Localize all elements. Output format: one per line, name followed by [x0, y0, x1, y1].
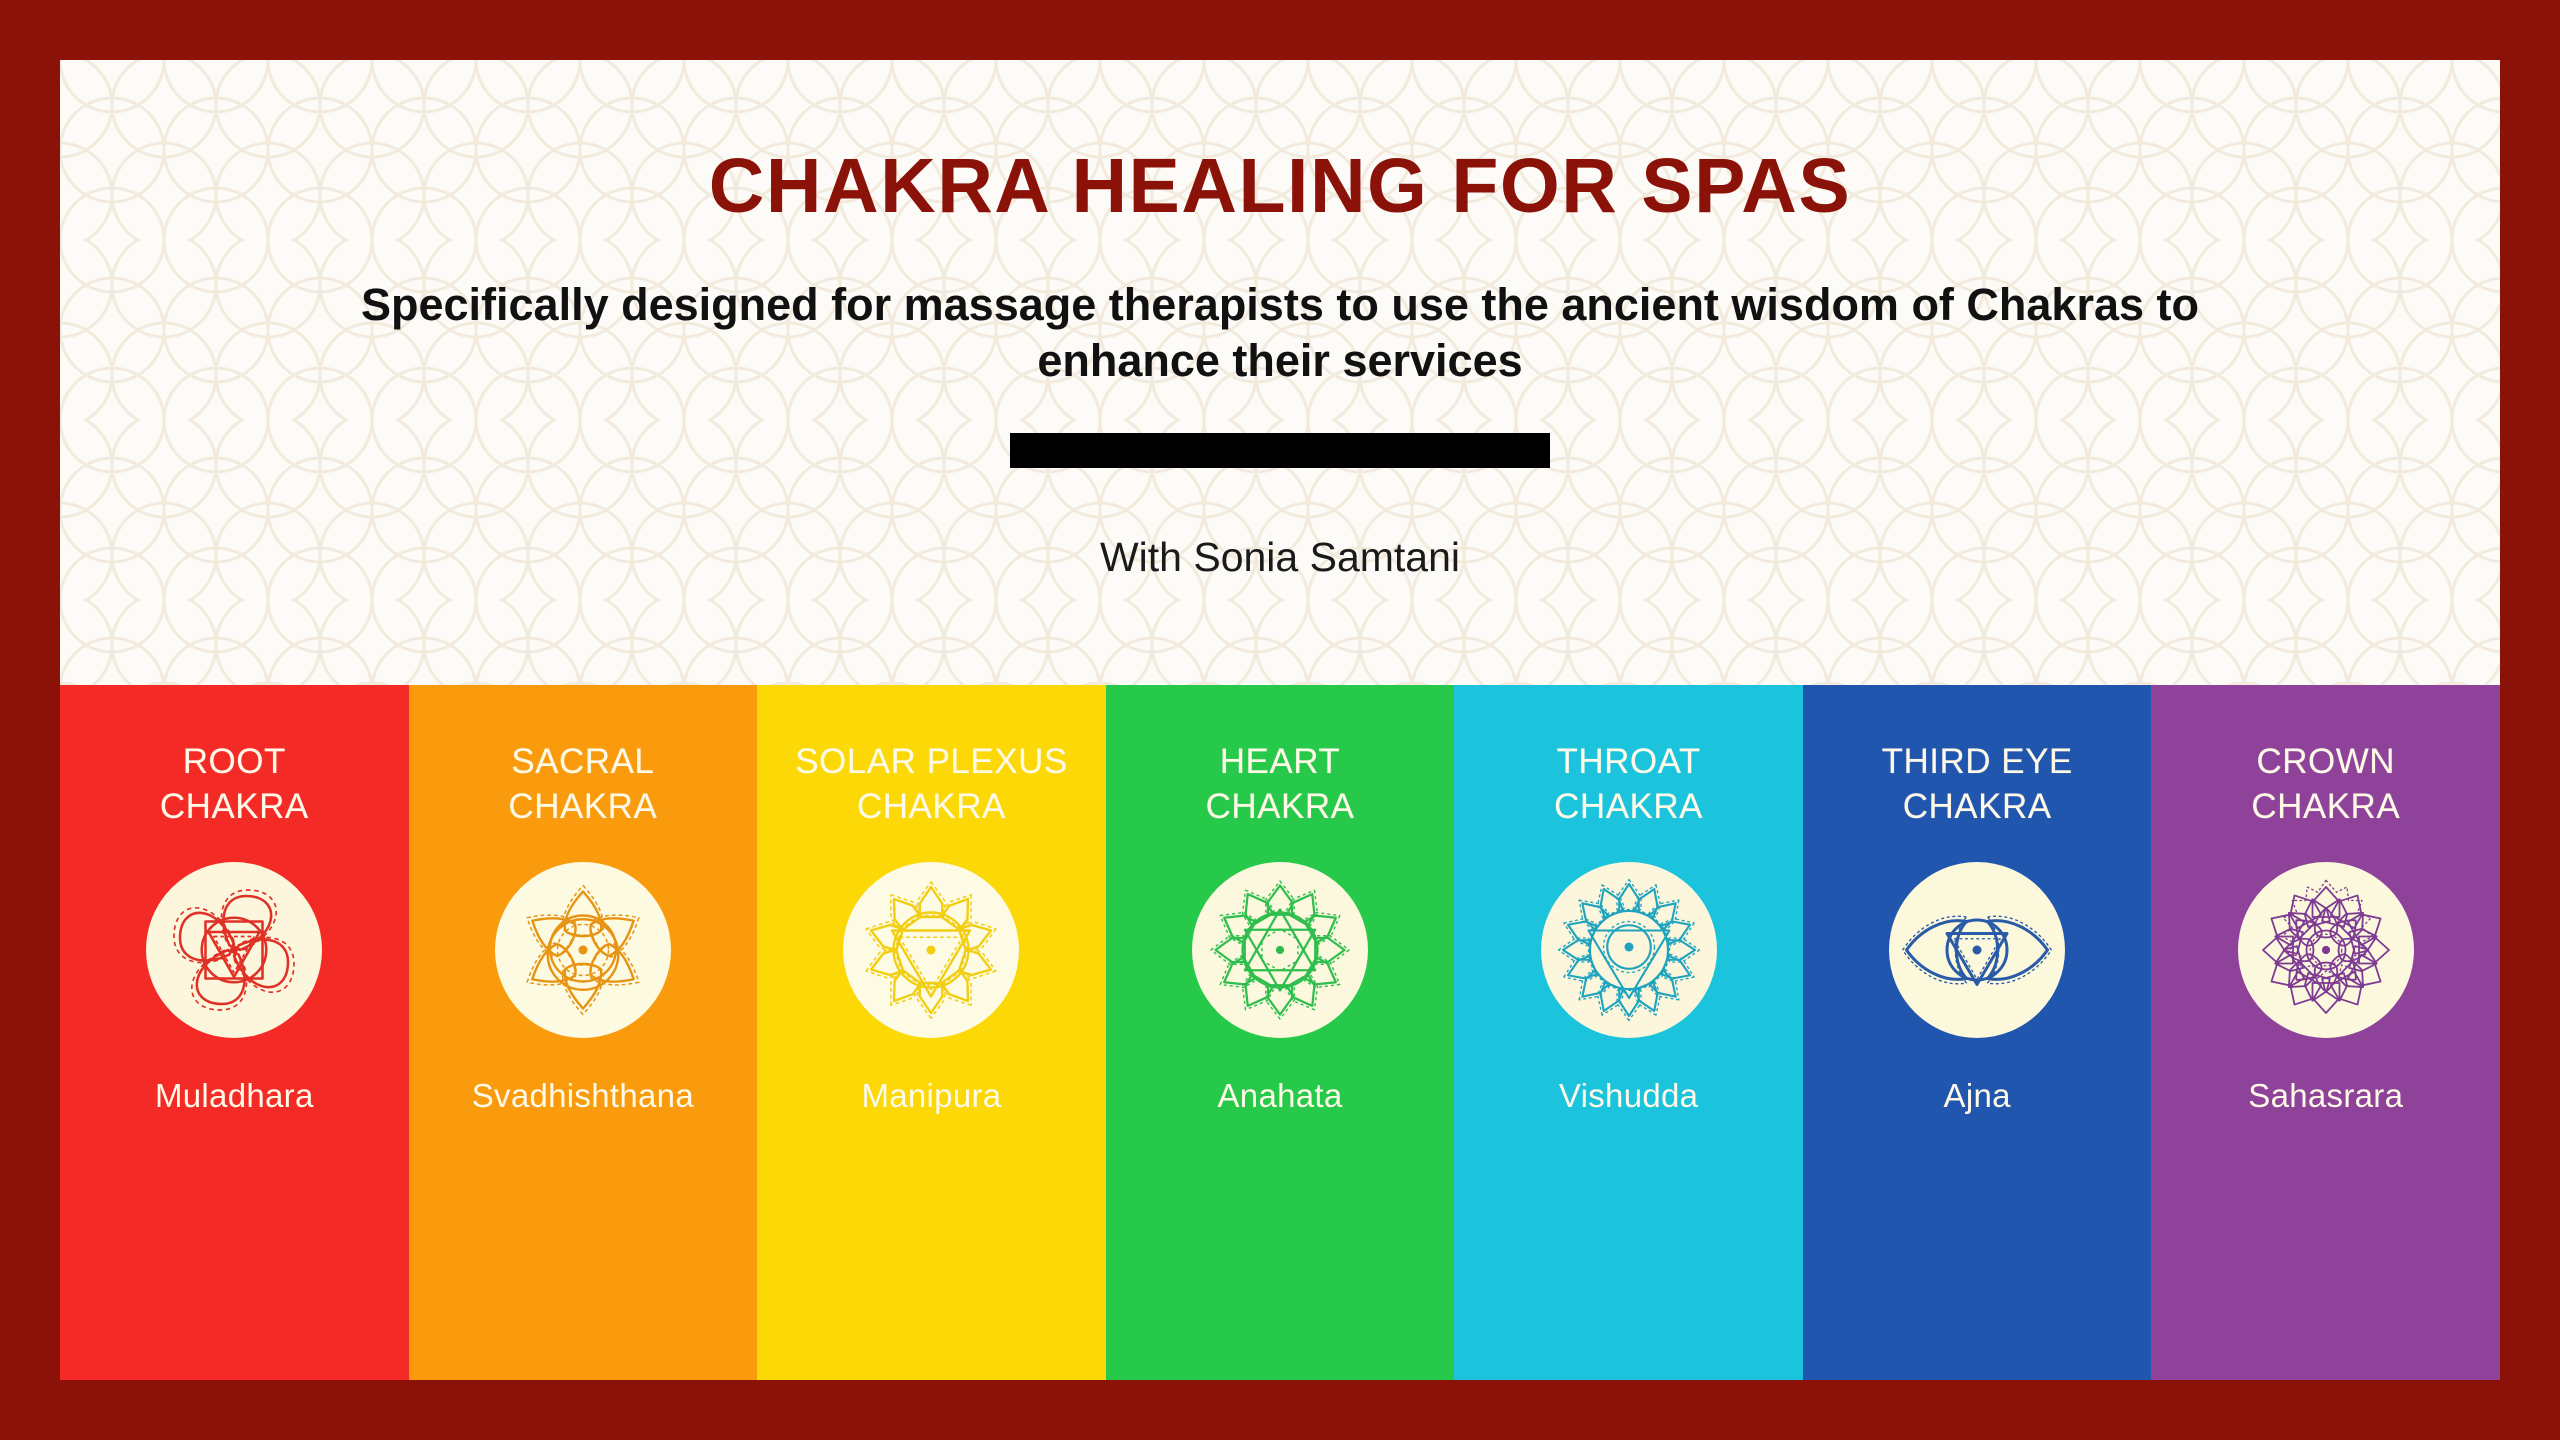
chakra-column-sacral[interactable]: SACRAL CHAKRA [409, 685, 758, 1380]
chakra-column-crown[interactable]: CROWN CHAKRA [2151, 685, 2500, 1380]
chakra-title-crown: CROWN CHAKRA [2251, 740, 2400, 830]
presenter-name: With Sonia Samtani [1100, 534, 1460, 581]
chakra-column-third-eye[interactable]: THIRD EYE CHAKRA [1803, 685, 2152, 1380]
header-content: CHAKRA HEALING FOR SPAS Specifically des… [60, 60, 2500, 685]
divider-bar [1010, 433, 1550, 468]
throat-chakra-symbol-icon [1541, 862, 1717, 1038]
third-eye-chakra-symbol-icon [1889, 862, 2065, 1038]
chakra-sanskrit-root: Muladhara [60, 1077, 409, 1115]
root-chakra-symbol-icon [146, 862, 322, 1038]
chakra-title-sacral: SACRAL CHAKRA [508, 740, 657, 830]
chakra-sanskrit-heart: Anahata [1106, 1077, 1455, 1115]
chakra-title-heart: HEART CHAKRA [1206, 740, 1355, 830]
chakra-title-throat: THROAT CHAKRA [1554, 740, 1703, 830]
chakra-column-solar-plexus[interactable]: SOLAR PLEXUS CHAKRA [757, 685, 1106, 1380]
chakra-sanskrit-sacral: Svadhishthana [409, 1077, 758, 1115]
page-title: CHAKRA HEALING FOR SPAS [709, 146, 1851, 227]
chakra-sanskrit-third-eye: Ajna [1803, 1077, 2152, 1115]
chakra-column-root[interactable]: ROOT CHAKRA [60, 685, 409, 1380]
chakra-sanskrit-solar-plexus: Manipura [757, 1077, 1106, 1115]
chakra-sanskrit-throat: Vishudda [1454, 1077, 1803, 1115]
chakra-title-root: ROOT CHAKRA [160, 740, 309, 830]
sacral-chakra-symbol-icon [495, 862, 671, 1038]
chakra-column-heart[interactable]: HEART CHAKRA [1106, 685, 1455, 1380]
chakra-title-third-eye: THIRD EYE CHAKRA [1882, 740, 2073, 830]
crown-chakra-symbol-icon [2238, 862, 2414, 1038]
chakra-columns: ROOT CHAKRA [60, 685, 2500, 1380]
chakra-title-solar-plexus: SOLAR PLEXUS CHAKRA [795, 740, 1068, 830]
chakra-column-throat[interactable]: THROAT CHAKRA [1454, 685, 1803, 1380]
heart-chakra-symbol-icon [1192, 862, 1368, 1038]
page-subtitle: Specifically designed for massage therap… [360, 277, 2200, 390]
chakra-sanskrit-crown: Sahasrara [2151, 1077, 2500, 1115]
header-panel: CHAKRA HEALING FOR SPAS Specifically des… [60, 60, 2500, 685]
solar-plexus-chakra-symbol-icon [843, 862, 1019, 1038]
slide-canvas: CHAKRA HEALING FOR SPAS Specifically des… [0, 0, 2560, 1440]
